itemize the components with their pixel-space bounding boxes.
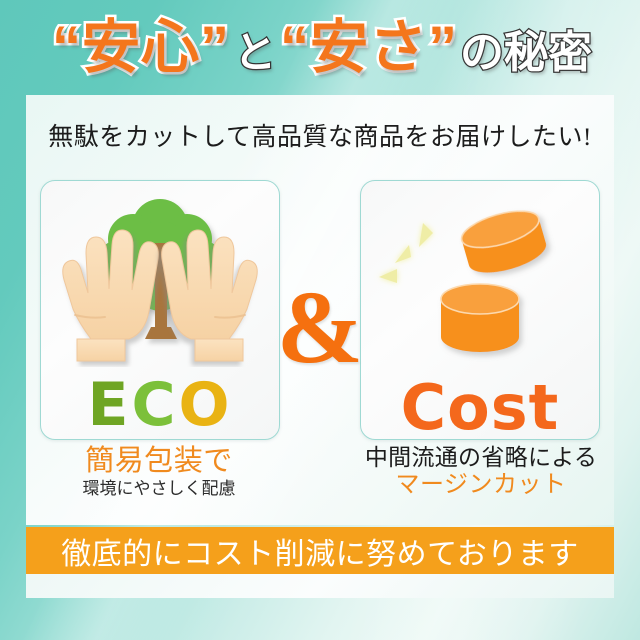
eco-letter-c: C xyxy=(131,370,178,440)
headline-quote-close-2: ” xyxy=(428,19,458,77)
headline-word-yasusa: 安さ xyxy=(310,19,428,77)
ampersand-divider: & xyxy=(277,276,364,380)
headline-tail-himitsu: の秘密 xyxy=(460,31,592,75)
promo-graphic-canvas: “ 安心 ” と “ 安さ ” の秘密 無駄をカットして高品質な商品をお届けした… xyxy=(0,0,640,640)
caption-cost-main: 中間流通の省略による xyxy=(362,445,600,471)
card-eco: ECO xyxy=(40,180,280,440)
caption-cost: 中間流通の省略による マージンカット xyxy=(362,445,600,500)
caption-cost-sub: マージンカット xyxy=(362,472,600,500)
panel-subtitle: 無駄をカットして高品質な商品をお届けしたい! xyxy=(26,117,614,153)
coin-cylinder-lid-popping-icon xyxy=(361,187,599,367)
sparkle-marks xyxy=(379,223,433,283)
card-eco-word: ECO xyxy=(41,375,279,435)
eco-letter-o: O xyxy=(179,370,233,440)
headline-connector: と xyxy=(234,32,276,74)
card-cost: Cost xyxy=(360,180,600,440)
hands-holding-tree-icon xyxy=(41,187,279,367)
header: “ 安心 ” と “ 安さ ” の秘密 xyxy=(0,0,640,96)
card-cost-word: Cost xyxy=(361,377,599,439)
caption-eco: 簡易包装で 環境にやさしく配慮 xyxy=(40,445,278,500)
bottom-banner: 徹底的にコスト削減に努めております xyxy=(26,527,614,574)
headline-word-anshin: 安心 xyxy=(82,19,200,77)
flying-lid xyxy=(458,204,550,280)
headline-quote-open: “ xyxy=(52,19,82,77)
caption-eco-main: 簡易包装で xyxy=(40,445,278,477)
banner-base-strip xyxy=(26,574,614,598)
headline-quote-open-2: “ xyxy=(280,19,310,77)
content-panel: 無駄をカットして高品質な商品をお届けしたい! xyxy=(26,95,614,525)
card-captions: 簡易包装で 環境にやさしく配慮 中間流通の省略による マージンカット xyxy=(40,445,600,521)
headline: “ 安心 ” と “ 安さ ” の秘密 xyxy=(44,19,596,77)
coin-cylinder xyxy=(441,284,519,352)
headline-quote-close: ” xyxy=(200,19,230,77)
feature-cards: ECO xyxy=(40,180,600,438)
bottom-banner-text: 徹底的にコスト削減に努めております xyxy=(61,529,579,573)
eco-letter-e: E xyxy=(87,370,131,440)
caption-eco-sub: 環境にやさしく配慮 xyxy=(40,479,278,499)
